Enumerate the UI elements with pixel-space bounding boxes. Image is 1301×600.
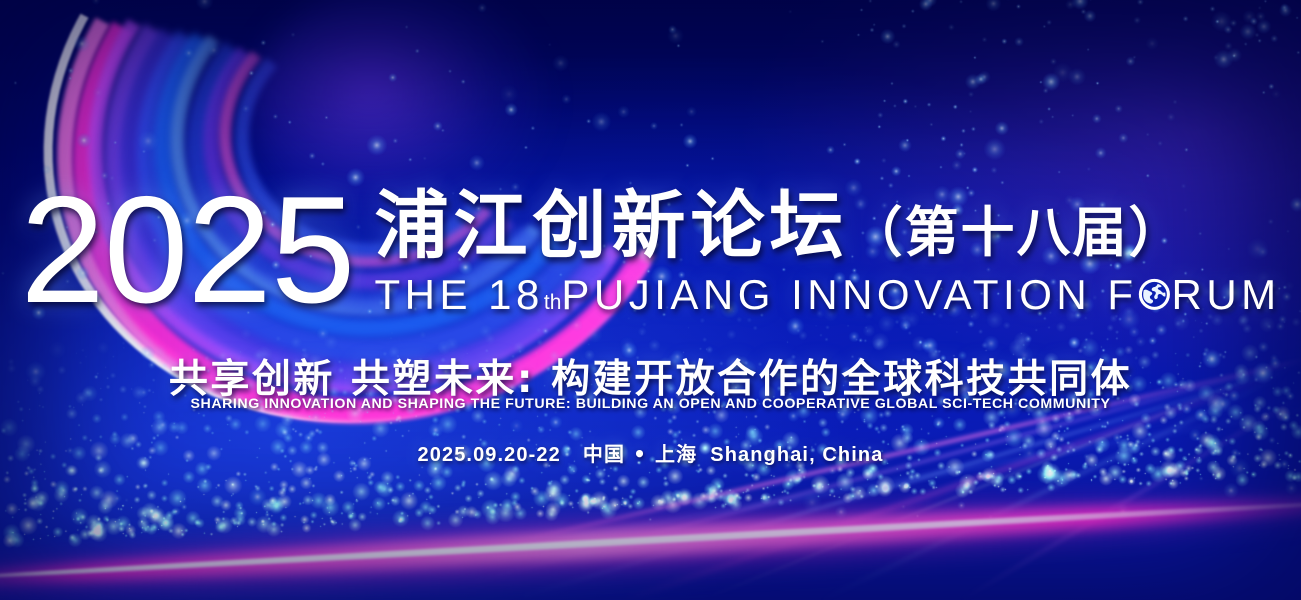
location-english: Shanghai, China xyxy=(710,444,883,466)
english-title-mid: PUJIANG INNOVATION F xyxy=(561,274,1137,316)
english-title-suffix: RUM xyxy=(1172,274,1281,316)
poster-content: 2025 浦江创新论坛（第十八届） THE 18th PUJIANG INNOV… xyxy=(0,0,1301,600)
location-chinese: 中国 • 上海 xyxy=(583,442,697,466)
chinese-title: 浦江创新论坛（第十八届） xyxy=(374,189,1280,263)
event-date: 2025.09.20-22 xyxy=(418,444,561,466)
english-title: THE 18th PUJIANG INNOVATION F RUM xyxy=(374,274,1280,316)
date-location-bar: 2025.09.20-22中国 • 上海Shanghai, China xyxy=(0,438,1301,467)
english-title-prefix: THE 18 xyxy=(374,274,543,316)
year-text: 2025 xyxy=(20,174,354,326)
globe-icon xyxy=(1138,276,1171,309)
title-row: 2025 浦江创新论坛（第十八届） THE 18th PUJIANG INNOV… xyxy=(0,178,1301,326)
chinese-title-main: 浦江创新论坛 xyxy=(374,183,848,269)
chinese-title-edition: （第十八届） xyxy=(848,201,1184,264)
slogan-english: SHARING INNOVATION AND SHAPING THE FUTUR… xyxy=(0,396,1301,412)
event-poster: 2025 浦江创新论坛（第十八届） THE 18th PUJIANG INNOV… xyxy=(0,0,1301,600)
title-stack: 浦江创新论坛（第十八届） THE 18th PUJIANG INNOVATION… xyxy=(374,189,1280,316)
